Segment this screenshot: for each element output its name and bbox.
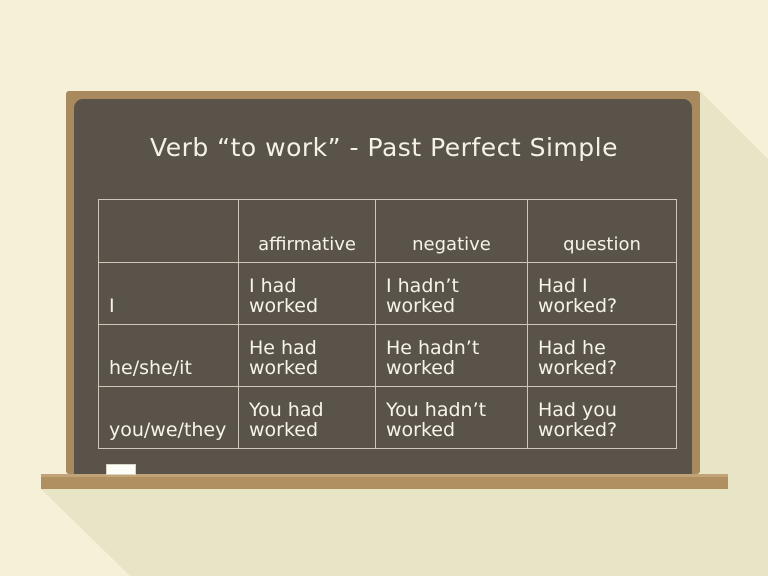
header-cell-question: question: [528, 200, 677, 263]
header-cell-negative: negative: [376, 200, 528, 263]
header-cell-blank: [99, 200, 239, 263]
chalkboard-content: Verb “to work” - Past Perfect Simple aff…: [0, 0, 768, 576]
question-cell: Had he worked?: [528, 325, 677, 387]
table-row: I I had worked I hadn’t worked Had I wor…: [99, 263, 677, 325]
question-cell: Had I worked?: [528, 263, 677, 325]
chalkboard-scene: Verb “to work” - Past Perfect Simple aff…: [0, 0, 768, 576]
negative-cell: I hadn’t worked: [376, 263, 528, 325]
pronoun-cell: you/we/they: [99, 387, 239, 449]
conjugation-table: affirmative negative question I I had wo…: [98, 199, 677, 449]
affirmative-cell: You had worked: [239, 387, 376, 449]
table-row: you/we/they You had worked You hadn’t wo…: [99, 387, 677, 449]
affirmative-cell: He had worked: [239, 325, 376, 387]
header-cell-affirmative: affirmative: [239, 200, 376, 263]
question-cell: Had you worked?: [528, 387, 677, 449]
table-header-row: affirmative negative question: [99, 200, 677, 263]
chalk-ledge-highlight: [41, 474, 728, 477]
affirmative-cell: I had worked: [239, 263, 376, 325]
chalk-stick-icon: [106, 464, 136, 475]
page-title: Verb “to work” - Past Perfect Simple: [0, 133, 768, 162]
negative-cell: He hadn’t worked: [376, 325, 528, 387]
table-row: he/she/it He had worked He hadn’t worked…: [99, 325, 677, 387]
pronoun-cell: he/she/it: [99, 325, 239, 387]
negative-cell: You hadn’t worked: [376, 387, 528, 449]
pronoun-cell: I: [99, 263, 239, 325]
chalk-ledge: [41, 474, 728, 489]
